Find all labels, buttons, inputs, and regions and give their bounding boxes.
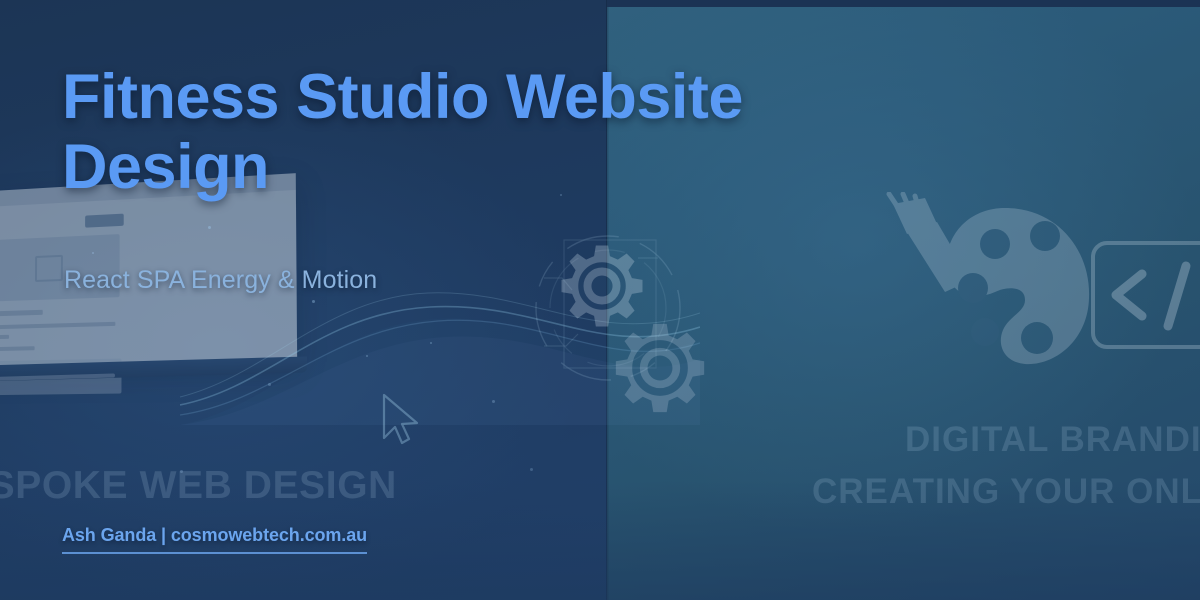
particle-dot <box>530 468 533 471</box>
top-dark-band <box>607 0 1200 7</box>
particle-dot <box>208 226 211 229</box>
particle-dot <box>312 300 315 303</box>
text-line <box>0 346 35 351</box>
page-title: Fitness Studio Website Design <box>62 62 762 202</box>
author-credit-link[interactable]: Ash Ganda | cosmowebtech.com.au <box>62 525 367 554</box>
image-placeholder-icon <box>35 255 63 282</box>
cursor-arrow-icon <box>378 392 424 448</box>
particle-dot <box>492 400 495 403</box>
text-line <box>0 310 43 317</box>
background-headline-right-line1: DIGITAL BRANDING <box>905 420 1200 460</box>
particle-dot <box>268 383 271 386</box>
banner-canvas: ESPOKE WEB DESIGN DIGITAL BRANDING CREAT… <box>0 0 1200 600</box>
code-brackets-icon <box>1090 240 1200 350</box>
particle-dot <box>92 252 94 254</box>
particle-dot <box>430 342 432 344</box>
background-headline-right-line2: CREATING YOUR ONLINE <box>812 472 1200 512</box>
text-line <box>0 322 115 330</box>
gear-icon <box>558 242 646 330</box>
text-line <box>0 335 9 340</box>
palette-icon <box>885 192 1115 392</box>
background-headline-left: ESPOKE WEB DESIGN <box>0 464 397 508</box>
gear-icon <box>612 320 708 416</box>
page-subtitle: React SPA Energy & Motion <box>64 266 377 295</box>
particle-dot <box>366 355 368 357</box>
cta-button-placeholder <box>85 214 124 228</box>
